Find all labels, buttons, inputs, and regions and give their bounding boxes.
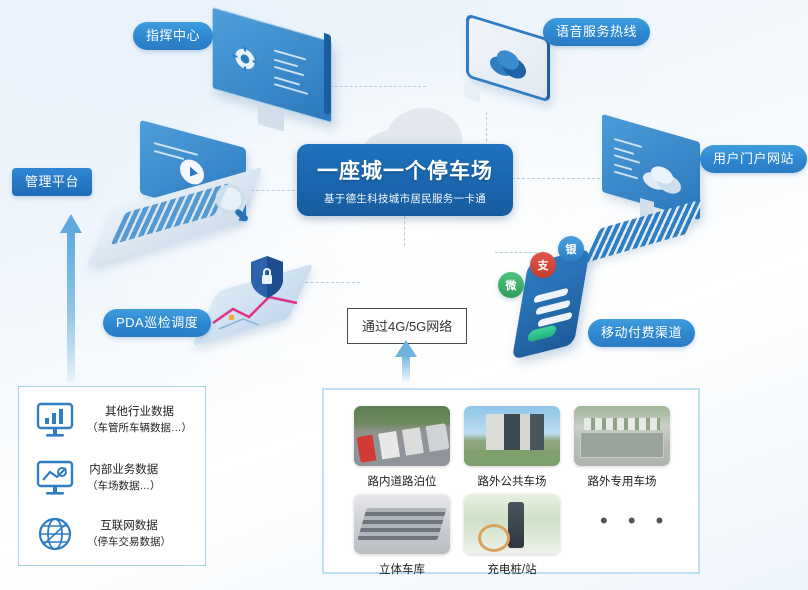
data-source-text: 内部业务数据 （车场数据…） [87,462,161,494]
scene-thumbnail [354,494,450,554]
globe-icon [35,515,75,553]
scene-caption: 路外公共车场 [464,473,560,489]
arrow-up-network-icon [395,340,417,382]
data-source-row[interactable]: 互联网数据 （停车交易数据） [35,515,171,553]
bar-chart-monitor-icon [35,401,75,439]
scene-thumbnail [464,406,560,466]
data-source-row[interactable]: 其他行业数据 （车管所车辆数据…） [35,401,192,439]
scene-caption: 路外专用车场 [574,473,670,489]
scene-thumbnail [574,406,670,466]
connector-banner-down [404,216,405,246]
data-source-title: 其他行业数据 [105,404,174,421]
label-network[interactable]: 通过4G/5G网络 [347,308,467,344]
alipay-icon[interactable]: 支 [530,252,556,278]
banner-title: 一座城一个停车场 [317,155,493,185]
label-voice-hotline[interactable]: 语音服务热线 [543,18,650,46]
scene-item[interactable]: 充电桩/站 [464,494,560,577]
scene-ellipsis: • • • [600,508,670,534]
voice-hotline-card [460,22,556,114]
scene-item[interactable]: 路外公共车场 [464,406,560,489]
scene-thumbnail [354,406,450,466]
data-source-text: 其他行业数据 （车管所车辆数据…） [87,404,192,436]
scene-item[interactable]: 路外专用车场 [574,406,670,489]
scene-item[interactable]: 路内道路泊位 [354,406,450,489]
connector-user-portal [512,178,600,179]
data-source-text: 互联网数据 （停车交易数据） [87,518,171,550]
pda-tablet [205,255,317,337]
wechat-pay-icon[interactable]: 微 [498,272,524,298]
label-user-portal[interactable]: 用户门户网站 [700,145,807,173]
label-pda-dispatch[interactable]: PDA巡检调度 [103,309,211,337]
banner-subtitle: 基于德生科技城市居民服务一卡通 [324,191,486,206]
user-portal-desktop [592,128,718,250]
infographic-canvas: 指挥中心 语音服务热线 管理平台 PDA巡检调度 [0,0,808,590]
data-source-detail: （车管所车辆数据…） [87,421,192,436]
arrow-up-data-icon [60,214,82,382]
line-chart-monitor-icon [35,459,75,497]
data-source-detail: （车场数据…） [87,479,161,494]
center-banner: 一座城一个停车场 基于德生科技城市居民服务一卡通 [297,144,513,216]
connector-command-center [330,86,426,87]
connector-mobile-payment [495,252,537,253]
unionpay-icon[interactable]: 银 [558,236,584,262]
data-source-title: 内部业务数据 [89,462,158,479]
label-command-center[interactable]: 指挥中心 [133,22,213,50]
scene-caption: 路内道路泊位 [354,473,450,489]
parking-scenes-panel: 路内道路泊位 路外公共车场 路外专用车场 立体车库 充电桩/站 [322,388,700,574]
magnifier-icon [212,182,256,226]
command-center-monitor [212,24,334,124]
data-sources-panel: 其他行业数据 （车管所车辆数据…） 内部业务数据 （车场数据…） 互联网数据 （… [18,386,206,566]
scene-thumbnail [464,494,560,554]
data-source-title: 互联网数据 [100,518,158,535]
label-management-platform[interactable]: 管理平台 [12,168,92,196]
label-mobile-payment[interactable]: 移动付费渠道 [588,319,695,347]
management-laptop [92,134,260,252]
scene-caption: 立体车库 [354,561,450,577]
data-source-row[interactable]: 内部业务数据 （车场数据…） [35,459,161,497]
scene-caption: 充电桩/站 [464,561,560,577]
scene-item[interactable]: 立体车库 [354,494,450,577]
data-source-detail: （停车交易数据） [87,535,171,550]
shield-lock-icon [249,255,285,299]
